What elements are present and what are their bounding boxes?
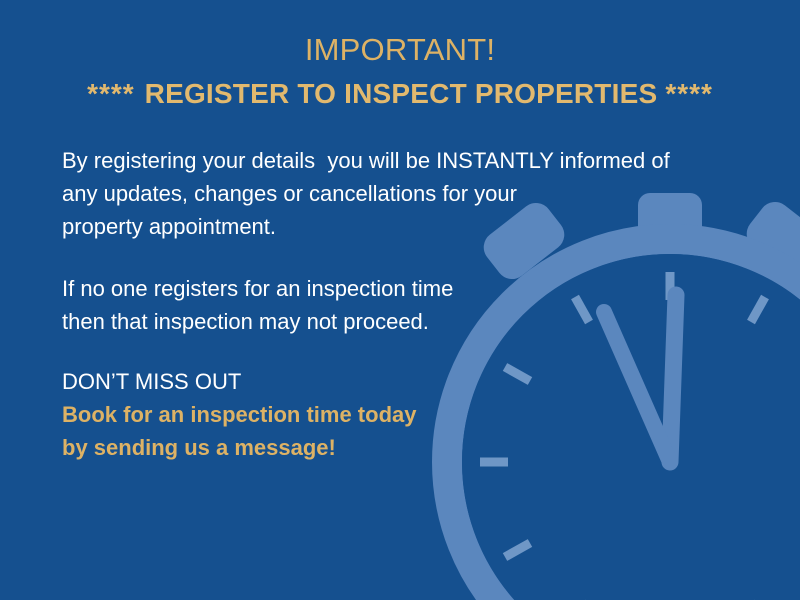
paragraph-1-line-2: any updates, changes or cancellations fo… [62,177,762,210]
paragraph-2-line-1: If no one registers for an inspection ti… [62,272,762,305]
stars-right: **** [665,78,713,109]
paragraph-registering: By registering your details you will be … [62,144,762,243]
slide-canvas: IMPORTANT! ****REGISTER TO INSPECT PROPE… [0,0,800,600]
headline-important: IMPORTANT! [0,30,800,70]
cta-send-message: by sending us a message! [62,431,762,464]
paragraph-2-line-2: then that inspection may not proceed. [62,305,762,338]
headline-register: ****REGISTER TO INSPECT PROPERTIES **** [0,74,800,114]
paragraph-1-line-1: By registering your details you will be … [62,144,762,177]
paragraph-1-line-3: property appointment. [62,210,762,243]
headline-block: IMPORTANT! ****REGISTER TO INSPECT PROPE… [0,30,800,114]
paragraph-call-to-action: DON’T MISS OUT Book for an inspection ti… [62,365,762,464]
slide-content: IMPORTANT! ****REGISTER TO INSPECT PROPE… [0,0,800,600]
paragraph-no-registration: If no one registers for an inspection ti… [62,272,762,338]
stars-left: **** [87,78,135,109]
cta-dont-miss-out: DON’T MISS OUT [62,365,762,398]
cta-book-inspection: Book for an inspection time today [62,398,762,431]
headline-register-text: REGISTER TO INSPECT PROPERTIES [145,78,658,109]
